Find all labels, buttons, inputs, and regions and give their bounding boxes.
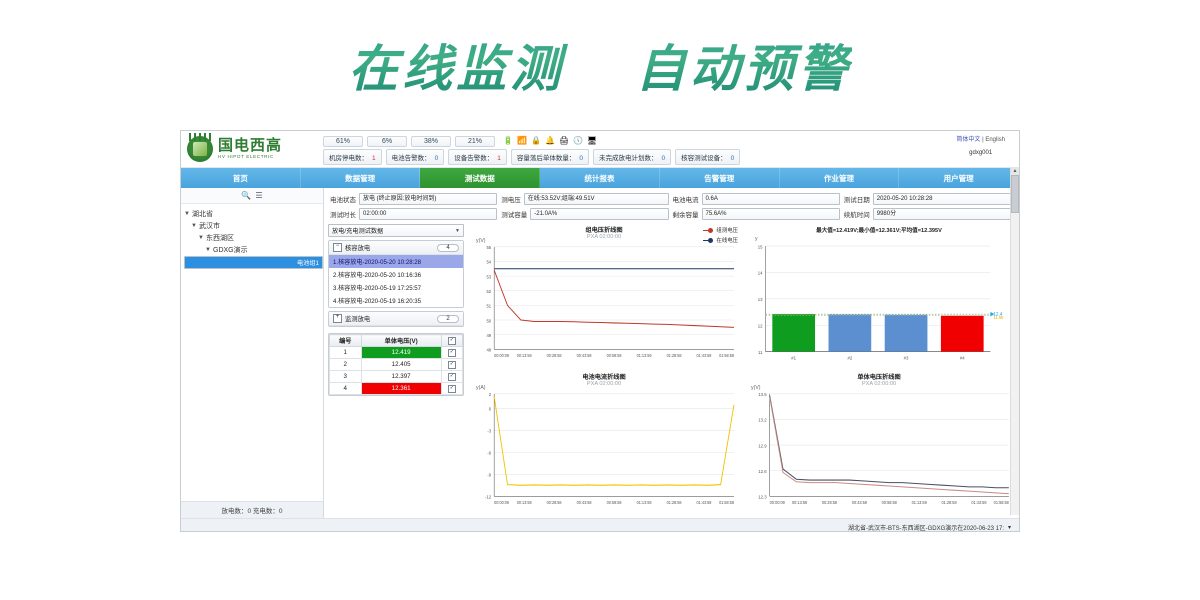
record-group-count: 4	[437, 244, 459, 252]
field-label: 电池电流	[673, 194, 699, 204]
column-header-2: ✓	[441, 335, 462, 347]
application-window: 国电西高 HV HIPOT ELECTRIC 61%6%38%21%🔋📶🔒🔔🖨🕔…	[180, 130, 1020, 532]
tree-node-label: 湖北省	[192, 209, 213, 219]
row-checkbox[interactable]: ✓	[448, 349, 456, 357]
record-group-count: 2	[437, 315, 459, 323]
tree-node-武汉市[interactable]: ▼武汉市	[184, 220, 323, 232]
svg-text:11.95: 11.95	[993, 315, 1004, 320]
tree-node-东西湖区[interactable]: ▼东西湖区	[184, 232, 323, 244]
cell-checkbox-cell[interactable]: ✓	[441, 383, 462, 395]
svg-text:12.3: 12.3	[758, 494, 767, 499]
field-label: 电池状态	[330, 194, 356, 204]
record-group-header[interactable]: −核容放电4	[329, 241, 463, 255]
field-value[interactable]: -21.0A%	[530, 208, 668, 220]
svg-text:00:00:09: 00:00:09	[494, 500, 510, 505]
svg-text:00:43:58: 00:43:58	[852, 500, 868, 505]
sidebar: 🔍 ☰ ▼湖北省▼武汉市▼东西湖区▼GDXG演示电池组1 放电数：0 充电数：0	[181, 188, 324, 518]
cell-voltage: 12.419	[361, 347, 441, 359]
chart-group-voltage: 组电压折线图 PXA 02:00:00 组测电压 在线电压 y(V) 48495…	[468, 224, 740, 368]
cell-voltage-table: 编号单体电压(V)✓ 112.419✓212.405✓312.397✓412.3…	[328, 333, 464, 396]
info-field-grid: 电池状态放电 (终止原因:放电时间到)测电压在线:53.52V;组端:49.51…	[324, 188, 1019, 224]
svg-text:-12: -12	[485, 494, 492, 499]
chart-cell-voltage-bars: 最大值=12.419V;最小值=12.361V;平均值=12.395V y 11…	[743, 224, 1015, 368]
bell-icon[interactable]: 🔔	[545, 136, 556, 147]
location-tree: ▼湖北省▼武汉市▼东西湖区▼GDXG演示电池组1	[181, 204, 323, 501]
cell-voltage: 12.361	[361, 383, 441, 395]
svg-text:01:43:58: 01:43:58	[697, 500, 713, 505]
svg-text:-6: -6	[487, 450, 491, 455]
chart-title: 单体电压折线图	[743, 371, 1015, 381]
printer-icon[interactable]: 🖨	[559, 136, 570, 147]
kpi-label: 容量落后单体数量：	[517, 155, 576, 162]
field-6: 剩余容量75.6A%	[673, 208, 840, 220]
chart-cell-voltage-line: 单体电压折线图 PXA 02:00:00 y(V) 12.312.612.913…	[743, 371, 1015, 515]
svg-text:48: 48	[486, 347, 491, 352]
scroll-up-arrow-icon[interactable]: ▲	[1011, 167, 1019, 175]
svg-text:01:58:58: 01:58:58	[994, 500, 1010, 505]
cell-checkbox-cell[interactable]: ✓	[441, 347, 462, 359]
chart-battery-current: 电池电流折线图 PXA 02:00:00 y(A) 20-3-6-9-1200:…	[468, 371, 740, 515]
field-label: 测试时长	[330, 209, 356, 219]
svg-text:#1: #1	[791, 355, 796, 360]
current-user: gdxg001	[956, 150, 1005, 156]
svg-text:00:13:58: 00:13:58	[517, 353, 533, 358]
field-4: 测试时长02:00:00	[330, 208, 497, 220]
field-5: 测试容量-21.0A%	[501, 208, 668, 220]
brand-name-en: HV HIPOT ELECTRIC	[218, 155, 282, 160]
row-checkbox[interactable]: ✓	[448, 361, 456, 369]
brand-name-cn: 国电西高	[218, 138, 282, 153]
kpi-value: 1	[372, 155, 376, 162]
svg-text:00:28:58: 00:28:58	[547, 500, 563, 505]
percent-badge-2: 38%	[411, 136, 451, 147]
field-value[interactable]: 75.6A%	[702, 208, 840, 220]
lang-english-link[interactable]: English	[985, 137, 1005, 143]
percent-badge-0: 61%	[323, 136, 363, 147]
row-checkbox[interactable]: ✓	[448, 373, 456, 381]
cell-checkbox-cell[interactable]: ✓	[441, 371, 462, 383]
svg-text:00:58:58: 00:58:58	[607, 500, 623, 505]
kpi-area: 61%6%38%21%🔋📶🔒🔔🖨🕔🖥 机房停电数：1电池告警数：0设备告警数：1…	[323, 134, 1019, 165]
field-1: 测电压在线:53.52V;组端:49.51V	[501, 193, 668, 205]
caret-down-icon[interactable]: ▼	[205, 247, 213, 253]
kpi-0: 机房停电数：1	[323, 149, 382, 165]
page-banner: 在线监测 自动预警	[0, 0, 1200, 130]
svg-text:0: 0	[489, 406, 492, 411]
caret-down-icon[interactable]: ▼	[184, 211, 192, 217]
kpi-value: 1	[497, 155, 501, 162]
chart-canvas: 12.312.612.913.213.500:00:0900:13:5800:2…	[743, 387, 1015, 515]
cell-voltage: 12.397	[361, 371, 441, 383]
cell-table: 编号单体电压(V)✓ 112.419✓212.405✓312.397✓412.3…	[329, 334, 463, 395]
field-2: 电池电流0.6A	[673, 193, 840, 205]
svg-text:00:28:58: 00:28:58	[547, 353, 563, 358]
cell-no: 2	[330, 359, 362, 371]
field-value[interactable]: 放电 (终止原因:放电时间到)	[359, 193, 497, 205]
field-label: 测电压	[501, 194, 521, 204]
battery-icon[interactable]: 🔋	[503, 136, 514, 147]
kpi-label: 机房停电数：	[329, 155, 368, 162]
scrollbar-thumb[interactable]	[1011, 175, 1019, 213]
svg-text:01:28:58: 01:28:58	[667, 500, 683, 505]
nav-tab-统计报表[interactable]: 统计报表	[540, 168, 660, 188]
field-7: 续航时间9980分	[844, 208, 1011, 220]
table-header-row: 编号单体电压(V)✓	[330, 335, 463, 347]
field-value[interactable]: 02:00:00	[359, 208, 497, 220]
svg-text:01:13:59: 01:13:59	[637, 500, 653, 505]
column-header-0: 编号	[330, 335, 362, 347]
search-icon[interactable]: 🔍	[241, 191, 251, 200]
percent-row: 61%6%38%21%🔋📶🔒🔔🖨🕔🖥	[323, 136, 1019, 147]
tree-node-label: 武汉市	[199, 221, 220, 231]
field-label: 测试容量	[501, 209, 527, 219]
svg-text:12.6: 12.6	[758, 468, 767, 473]
charts-grid: 组电压折线图 PXA 02:00:00 组测电压 在线电压 y(V) 48495…	[468, 224, 1015, 514]
kpi-label: 电池告警数：	[392, 155, 431, 162]
expand-icon[interactable]: +	[333, 314, 342, 323]
filter-icon[interactable]: ☰	[255, 191, 262, 200]
page-title: 在线监测 自动预警	[348, 29, 852, 101]
svg-text:00:00:09: 00:00:09	[494, 353, 510, 358]
sidebar-footer-counts: 放电数：0 充电数：0	[181, 501, 323, 518]
row-checkbox[interactable]: ✓	[448, 385, 456, 393]
record-item[interactable]: 3.核容放电-2020-05-19 17:25:57	[329, 281, 463, 294]
kpi-2: 设备告警数：1	[448, 149, 507, 165]
chart-canvas: 484950515253545500:00:0900:13:5800:28:58…	[468, 240, 740, 368]
language-switch[interactable]: 简体中文 | English	[956, 134, 1005, 143]
wifi-icon[interactable]: 📶	[517, 136, 528, 147]
svg-text:00:13:58: 00:13:58	[517, 500, 533, 505]
status-bar: 湖北省-武汉市-BTS-东西湖区-GDXG演示在2020-06-23 17: ▾	[181, 518, 1019, 532]
legend-label: 组测电压	[716, 226, 738, 234]
chart-canvas: 1112131415#1#2#3#412.411.95	[743, 237, 1015, 368]
field-label: 测试日期	[844, 194, 870, 204]
caret-down-icon[interactable]: ▼	[191, 223, 199, 229]
svg-text:00:13:58: 00:13:58	[792, 500, 808, 505]
tree-node-GDXG演示[interactable]: ▼GDXG演示	[184, 244, 323, 256]
cell-no: 3	[330, 371, 362, 383]
field-3: 测试日期2020-05-20 10:28:28	[844, 193, 1011, 205]
clock-icon[interactable]: 🕔	[573, 136, 584, 147]
svg-text:00:58:58: 00:58:58	[882, 500, 898, 505]
kpi-1: 电池告警数：0	[386, 149, 445, 165]
tree-node-label: GDXG演示	[213, 245, 248, 255]
svg-text:12: 12	[758, 323, 763, 328]
company-logo-icon	[187, 136, 213, 162]
svg-text:00:43:58: 00:43:58	[577, 353, 593, 358]
sidebar-search-bar[interactable]: 🔍 ☰	[181, 188, 323, 204]
cell-no: 4	[330, 383, 362, 395]
cell-checkbox-cell[interactable]: ✓	[441, 359, 462, 371]
status-icons: 🔋📶🔒🔔🖨🕔🖥	[503, 136, 598, 147]
svg-text:13: 13	[758, 297, 763, 302]
svg-text:01:58:58: 01:58:58	[719, 353, 735, 358]
column-header-1: 单体电压(V)	[361, 335, 441, 347]
record-groups: −核容放电41.核容放电-2020-05-20 10:28:282.核容放电-2…	[328, 240, 464, 330]
svg-text:50: 50	[486, 318, 491, 323]
svg-text:01:43:58: 01:43:58	[697, 353, 713, 358]
chart-canvas: 20-3-6-9-1200:00:0900:13:5800:28:5800:43…	[468, 387, 740, 515]
svg-text:#3: #3	[904, 355, 909, 360]
records-column: 放电/充电测试数据 ▼ −核容放电41.核容放电-2020-05-20 10:2…	[328, 224, 464, 514]
record-group-监测放电: +监测放电2	[328, 311, 464, 327]
svg-text:01:28:58: 01:28:58	[667, 353, 683, 358]
record-item[interactable]: 2.核容放电-2020-05-20 10:16:36	[329, 268, 463, 281]
record-group-header[interactable]: +监测放电2	[329, 312, 463, 326]
kpi-value: 0	[435, 155, 439, 162]
status-text: 湖北省-武汉市-BTS-东西湖区-GDXG演示在2020-06-23 17:	[848, 523, 1004, 532]
nav-tab-首页[interactable]: 首页	[181, 168, 301, 188]
table-row[interactable]: 212.405✓	[330, 359, 463, 371]
svg-text:53: 53	[486, 274, 491, 279]
nav-tab-测试数据[interactable]: 测试数据	[420, 168, 540, 188]
record-group-name: 监测放电	[345, 314, 370, 323]
svg-text:2: 2	[489, 391, 492, 396]
svg-text:13.2: 13.2	[758, 417, 767, 422]
percent-badge-1: 6%	[367, 136, 407, 147]
content-pane: 电池状态放电 (终止原因:放电时间到)测电压在线:53.52V;组端:49.51…	[324, 188, 1019, 518]
kpi-5: 核容测试设备：0	[675, 149, 740, 165]
svg-text:00:43:58: 00:43:58	[577, 500, 593, 505]
svg-text:-9: -9	[487, 472, 491, 477]
test-data-type-value: 放电/充电测试数据	[332, 226, 383, 235]
lang-chinese-link[interactable]: 简体中文	[956, 137, 980, 143]
svg-text:12.9: 12.9	[758, 443, 767, 448]
brand-logo: 国电西高 HV HIPOT ELECTRIC	[181, 136, 323, 162]
app-topbar: 国电西高 HV HIPOT ELECTRIC 61%6%38%21%🔋📶🔒🔔🖨🕔…	[181, 131, 1019, 168]
svg-text:00:00:09: 00:00:09	[770, 500, 786, 505]
table-row[interactable]: 112.419✓	[330, 347, 463, 359]
svg-text:15: 15	[758, 244, 763, 249]
chart-title: 电池电流折线图	[468, 371, 740, 381]
kpi-value: 0	[662, 155, 666, 162]
table-row[interactable]: 312.397✓	[330, 371, 463, 383]
svg-text:11: 11	[758, 350, 763, 355]
field-value[interactable]: 2020-05-20 10:28:28	[873, 193, 1011, 205]
select-all-checkbox[interactable]: ✓	[448, 337, 456, 345]
field-label: 续航时间	[844, 209, 870, 219]
kpi-label: 未完成放电计划数：	[599, 155, 658, 162]
kpi-row: 机房停电数：1电池告警数：0设备告警数：1容量落后单体数量：0未完成放电计划数：…	[323, 149, 1019, 165]
percent-badge-3: 21%	[455, 136, 495, 147]
legend-item-measured: 组测电压	[703, 226, 738, 234]
table-row[interactable]: 412.361✓	[330, 383, 463, 395]
app-body: 🔍 ☰ ▼湖北省▼武汉市▼东西湖区▼GDXG演示电池组1 放电数：0 充电数：0…	[181, 188, 1019, 518]
svg-text:#2: #2	[847, 355, 852, 360]
cell-no: 1	[330, 347, 362, 359]
kpi-label: 核容测试设备：	[681, 155, 727, 162]
status-caret-icon[interactable]: ▾	[1008, 524, 1011, 531]
svg-text:01:28:58: 01:28:58	[941, 500, 957, 505]
chart-title: 最大值=12.419V;最小值=12.361V;平均值=12.395V	[743, 224, 1015, 234]
field-label: 剩余容量	[673, 209, 699, 219]
field-value[interactable]: 0.6A	[702, 193, 840, 205]
record-item[interactable]: 4.核容放电-2020-05-19 16:20:35	[329, 294, 463, 307]
record-item[interactable]: 1.核容放电-2020-05-20 10:28:28	[329, 255, 463, 268]
record-group-name: 核容放电	[345, 243, 370, 252]
record-group-核容放电: −核容放电41.核容放电-2020-05-20 10:28:282.核容放电-2…	[328, 240, 464, 308]
svg-text:49: 49	[486, 333, 491, 338]
lock-icon[interactable]: 🔒	[531, 136, 542, 147]
chevron-down-icon[interactable]: ▼	[455, 228, 460, 234]
svg-text:14: 14	[758, 271, 763, 276]
tree-node-label: 东西湖区	[206, 233, 234, 243]
collapse-icon[interactable]: −	[333, 243, 342, 252]
svg-text:13.5: 13.5	[758, 391, 767, 396]
tree-node-label: 电池组1	[297, 258, 319, 267]
field-value[interactable]: 在线:53.52V;组端:49.51V	[524, 193, 669, 205]
test-data-type-select[interactable]: 放电/充电测试数据 ▼	[328, 224, 464, 237]
kpi-value: 0	[579, 155, 583, 162]
field-value[interactable]: 9980分	[873, 208, 1011, 220]
svg-text:01:13:59: 01:13:59	[637, 353, 653, 358]
nav-tab-告警管理[interactable]: 告警管理	[660, 168, 780, 188]
svg-text:00:28:58: 00:28:58	[822, 500, 838, 505]
svg-text:51: 51	[486, 303, 491, 308]
user-box: 简体中文 | English gdxg001	[956, 134, 1005, 156]
svg-text:-3: -3	[487, 428, 491, 433]
svg-text:01:13:59: 01:13:59	[912, 500, 928, 505]
kpi-value: 0	[731, 155, 735, 162]
main-split: 放电/充电测试数据 ▼ −核容放电41.核容放电-2020-05-20 10:2…	[324, 224, 1019, 518]
svg-text:54: 54	[486, 260, 491, 265]
cell-voltage: 12.405	[361, 359, 441, 371]
chart-title: 组电压折线图	[468, 224, 740, 234]
nav-tab-作业管理[interactable]: 作业管理	[780, 168, 900, 188]
svg-text:52: 52	[486, 289, 491, 294]
caret-down-icon[interactable]: ▼	[198, 235, 206, 241]
svg-text:01:43:58: 01:43:58	[971, 500, 987, 505]
tree-node-电池组1[interactable]: 电池组1	[184, 256, 323, 269]
kpi-4: 未完成放电计划数：0	[593, 149, 671, 165]
svg-text:55: 55	[486, 245, 491, 250]
svg-text:00:58:58: 00:58:58	[607, 353, 623, 358]
nav-tab-用户管理[interactable]: 用户管理	[899, 168, 1019, 188]
svg-text:#4: #4	[960, 355, 965, 360]
monitor-icon[interactable]: 🖥	[587, 136, 598, 147]
field-0: 电池状态放电 (终止原因:放电时间到)	[330, 193, 497, 205]
kpi-3: 容量落后单体数量：0	[511, 149, 589, 165]
nav-tab-数据管理[interactable]: 数据管理	[301, 168, 421, 188]
kpi-label: 设备告警数：	[454, 155, 493, 162]
tree-node-湖北省[interactable]: ▼湖北省	[184, 208, 323, 220]
main-nav: 首页数据管理测试数据统计报表告警管理作业管理用户管理	[181, 168, 1019, 188]
window-scrollbar[interactable]: ▲	[1010, 167, 1019, 515]
table-body: 112.419✓212.405✓312.397✓412.361✓	[330, 347, 463, 395]
svg-text:01:58:58: 01:58:58	[719, 500, 735, 505]
